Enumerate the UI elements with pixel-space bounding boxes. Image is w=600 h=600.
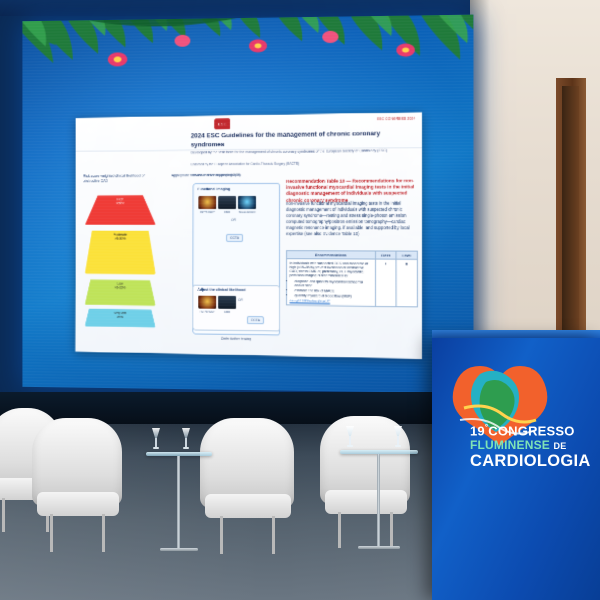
table-foot — [358, 546, 400, 549]
cmr-thumbnail-2 — [218, 296, 236, 309]
second-modality-labels: PET/SPECT CMR — [198, 309, 236, 314]
table-stem — [177, 456, 180, 548]
chair-leg — [272, 516, 275, 554]
presentation-slide: ESC ESC CONGRESS 2024 2024 ESC Guideline… — [75, 112, 422, 359]
ccta-chip-2: CCTA — [247, 316, 264, 324]
recommendation-cell: In individuals with suspected CCS and mo… — [287, 259, 376, 306]
wine-glass — [394, 426, 402, 448]
adjust-likelihood-box: Adjust the clinical likelihood PET/SPECT… — [193, 284, 280, 331]
chair-seat — [205, 494, 291, 518]
podium-line-3: CARDIOLOGIA — [470, 452, 596, 470]
podium-fluminense-word: FLUMINENSE — [470, 438, 550, 452]
risk-band-low: Low >5-15% — [85, 279, 156, 305]
chair — [32, 418, 124, 548]
glass-foot — [395, 445, 401, 447]
glass-foot — [183, 447, 189, 449]
wine-glass — [152, 428, 160, 450]
risk-band-high-value: >50% — [116, 202, 124, 206]
wine-glass — [346, 426, 354, 448]
or-connector-1: OR — [231, 218, 236, 222]
podium-congresso-word: CONGRESSO — [488, 423, 574, 438]
esc-logo: ESC — [214, 118, 230, 129]
wine-glass — [182, 428, 190, 450]
ccta-chip-1: CCTA — [226, 234, 243, 242]
glass-stem — [349, 436, 350, 445]
invasive-angiography-label: Invasive coronary angiography — [193, 173, 278, 179]
glass-stem — [155, 438, 156, 447]
podium-branding: 19°CONGRESSO FLUMINENSE DE CARDIOLOGIA — [470, 424, 596, 471]
cocktail-table — [146, 452, 212, 570]
cocktail-table — [340, 450, 418, 568]
pet-spect-thumbnail — [199, 196, 217, 209]
glass-foot — [347, 445, 353, 447]
chair-leg — [2, 498, 5, 532]
second-modality-label-pet-spect: PET/SPECT — [198, 309, 216, 313]
podium-edition-number: 19 — [470, 423, 485, 438]
glass-bowl — [182, 428, 190, 438]
or-connector-2: OR — [238, 298, 243, 302]
adjust-likelihood-title: Adjust the clinical likelihood — [198, 288, 246, 293]
glass-stem — [397, 436, 398, 445]
slide-subtitle: Developed by the task force for the mana… — [191, 148, 419, 156]
podium-line-1: 19°CONGRESSO — [470, 424, 596, 439]
chair-leg — [102, 514, 105, 552]
risk-band-very-low-value: ≤5% — [117, 315, 123, 319]
slide-title: 2024 ESC Guidelines for the management o… — [191, 130, 414, 150]
second-modality-label-cmr: CMR — [218, 310, 236, 314]
modality-label-stress-echo: Stress ECHO — [238, 210, 256, 214]
glass-foot — [153, 447, 159, 449]
second-modality-thumbnails — [198, 295, 236, 308]
podium-line-2: FLUMINENSE DE — [470, 439, 596, 452]
recommendation-body: non-invasive functional myocardial imagi… — [286, 201, 418, 238]
col-class: Class — [375, 251, 396, 259]
table-row: In individuals with suspected CCS and mo… — [287, 259, 418, 307]
pet-spect-thumbnail-2 — [198, 295, 216, 308]
glass-bowl — [394, 426, 402, 436]
cmr-thumbnail — [218, 196, 236, 209]
podium-de-word: DE — [554, 441, 567, 451]
conference-hall-photo: ESC ESC CONGRESS 2024 2024 ESC Guideline… — [0, 0, 600, 600]
recommendation-bullets: diagnose and quantify myocardial ischaem… — [295, 279, 373, 298]
stress-echo-thumbnail — [238, 196, 256, 209]
modality-label-pet-spect: PET/SPECT — [199, 210, 217, 214]
functional-imaging-title: Functional imaging — [198, 187, 230, 191]
glass-stem — [185, 438, 186, 447]
slide-subtitle-secondary: Endorsed by the European Association for… — [191, 160, 419, 167]
modality-label-cmr: CMR — [218, 210, 236, 214]
led-video-wall: ESC ESC CONGRESS 2024 2024 ESC Guideline… — [22, 15, 473, 394]
modality-labels: PET/SPECT CMR Stress ECHO — [199, 210, 256, 214]
class-cell: I — [375, 259, 396, 306]
recommendation-table: Recommendations Class Level In individua… — [286, 250, 418, 307]
level-cell: B — [396, 259, 417, 306]
glass-bowl — [346, 426, 354, 436]
list-item: quantify myocardial blood flow (MBF) — [295, 293, 373, 298]
defer-testing-note: Defer further testing — [193, 336, 280, 342]
col-level: Level — [396, 251, 417, 259]
slide-corner-note: ESC CONGRESS 2024 — [377, 116, 416, 121]
risk-band-high: High >50% — [85, 195, 156, 225]
reference-link[interactable]: doi.org/10.1093/eurheartj/ehae177 — [290, 299, 330, 303]
tropical-foliage-decor — [22, 15, 473, 112]
chair-leg — [50, 514, 53, 552]
recommendation-cell-text: In individuals with suspected CCS and mo… — [290, 261, 369, 278]
table-stem — [377, 454, 380, 546]
chair-seat — [37, 492, 119, 516]
modality-thumbnails — [199, 196, 256, 209]
risk-band-moderate: Moderate >5-50% — [85, 231, 156, 275]
risk-pyramid: High >50% Moderate >5-50% Low >5-15% Ver… — [85, 193, 156, 329]
list-item: diagnose and quantify myocardial ischaem… — [295, 279, 373, 288]
chair-leg — [220, 516, 223, 554]
glass-bowl — [152, 428, 160, 438]
risk-band-very-low: Very low ≤5% — [85, 309, 156, 328]
risk-band-moderate-value: >5-50% — [115, 237, 126, 241]
list-item: estimate the risk of MACE — [295, 288, 373, 293]
table-foot — [160, 548, 198, 551]
chair — [200, 418, 296, 550]
pretest-likelihood-heading: Risk-score-weighted clinical likelihood … — [83, 174, 152, 184]
risk-band-low-value: >5-15% — [114, 286, 125, 290]
